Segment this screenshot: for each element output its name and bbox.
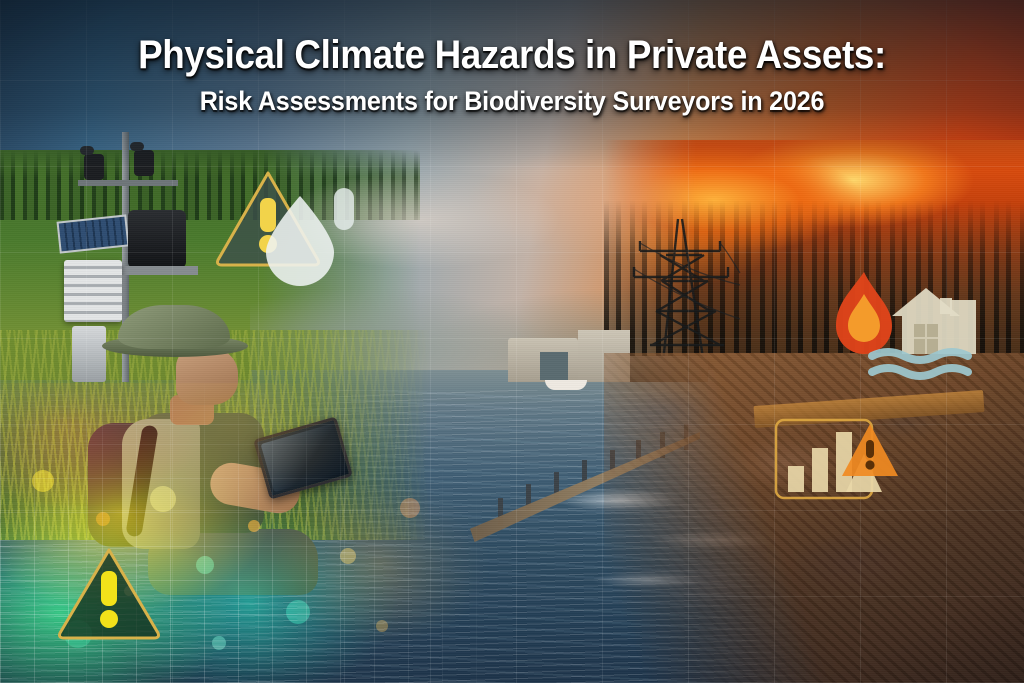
risk-chart-badge (774, 418, 898, 500)
water-droplet-group (258, 182, 358, 278)
page-title: Physical Climate Hazards in Private Asse… (41, 34, 983, 76)
poster-canvas: Physical Climate Hazards in Private Asse… (0, 0, 1024, 683)
critical-warning-triangle-icon (54, 545, 164, 641)
page-subtitle: Risk Assessments for Biodiversity Survey… (36, 87, 988, 117)
bar-chart-icon (788, 432, 852, 492)
flood-waves-icon (872, 352, 968, 376)
title-block: Physical Climate Hazards in Private Asse… (0, 34, 1024, 117)
flame-icon (836, 272, 892, 354)
water-droplet-icon (266, 196, 334, 286)
water-droplet-small-icon (334, 188, 354, 230)
hazard-icon-group (828, 268, 1004, 380)
